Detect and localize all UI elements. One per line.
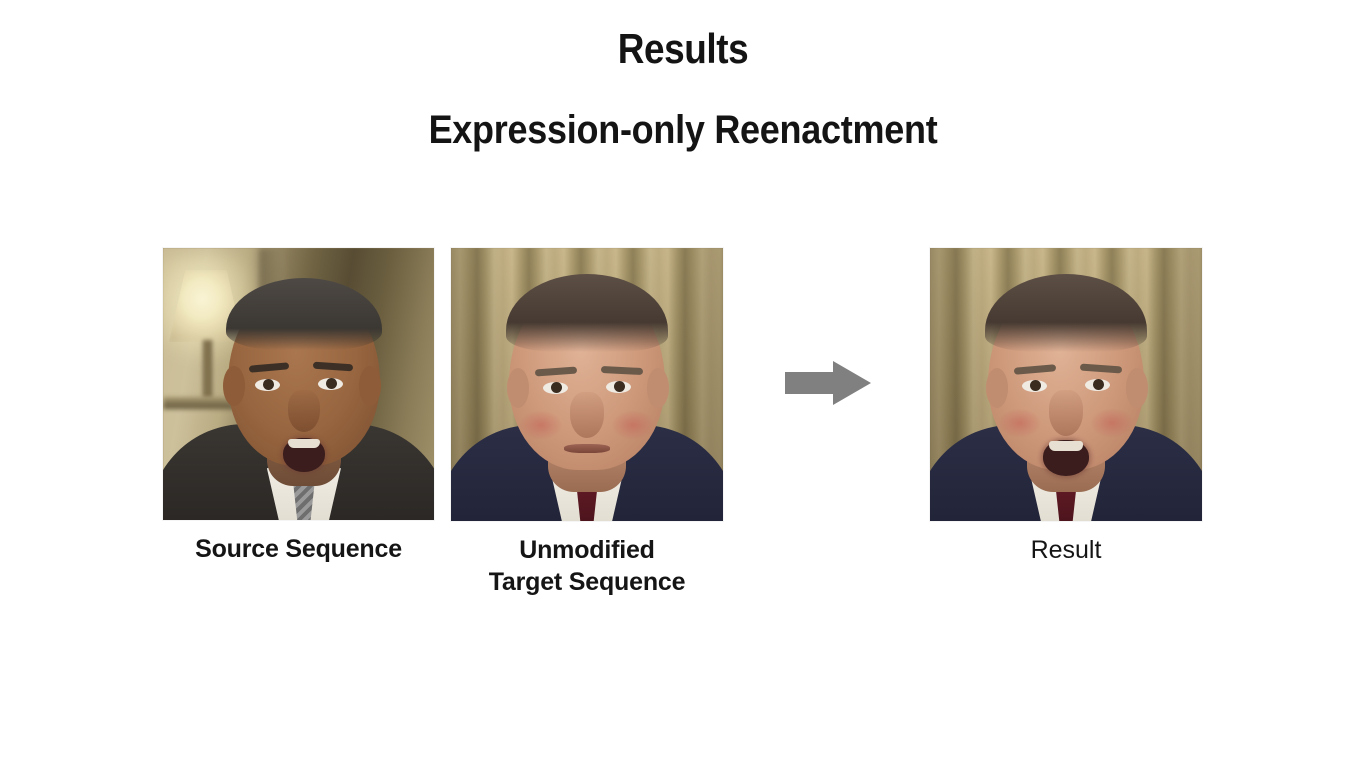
- nose: [1049, 390, 1083, 436]
- ear-left: [223, 366, 245, 406]
- ear-right: [359, 366, 381, 406]
- caption-target-sequence: Unmodified Target Sequence: [489, 534, 686, 598]
- caption-line: Result: [1031, 534, 1102, 566]
- hair: [506, 274, 668, 352]
- nose: [570, 392, 604, 438]
- cheek-left: [519, 410, 563, 440]
- panel-result: Result: [930, 248, 1202, 521]
- pupil-left: [263, 379, 274, 390]
- target-subject-figure: [451, 248, 723, 521]
- caption-result: Result: [1031, 534, 1102, 566]
- cheek-right: [1090, 408, 1134, 438]
- caption-line: Target Sequence: [489, 566, 686, 598]
- result-image: [930, 248, 1202, 521]
- pupil-right: [1093, 379, 1104, 390]
- hair: [985, 274, 1147, 352]
- page-subtitle: Expression-only Reenactment: [68, 104, 1297, 156]
- teeth: [288, 439, 320, 448]
- panel-source-sequence: Source Sequence: [163, 248, 434, 520]
- caption-source-sequence: Source Sequence: [195, 533, 402, 565]
- pupil-left: [1030, 380, 1041, 391]
- ear-left: [507, 368, 529, 408]
- caption-line: Unmodified: [489, 534, 686, 566]
- ear-left: [986, 368, 1008, 408]
- cheek-left: [998, 408, 1042, 438]
- ear-right: [647, 368, 669, 408]
- teeth: [1049, 441, 1083, 451]
- panel-target-sequence: Unmodified Target Sequence: [451, 248, 723, 521]
- source-subject-figure: [163, 248, 434, 520]
- pupil-right: [326, 378, 337, 389]
- hair: [226, 278, 382, 350]
- target-sequence-image: [451, 248, 723, 521]
- nose: [288, 390, 320, 432]
- page-title: Results: [82, 24, 1284, 74]
- pupil-left: [551, 382, 562, 393]
- pupil-right: [614, 381, 625, 392]
- ear-right: [1126, 368, 1148, 408]
- mouth-closed: [564, 444, 610, 453]
- result-subject-figure: [930, 248, 1202, 521]
- cheek-right: [611, 410, 655, 440]
- caption-line: Source Sequence: [195, 533, 402, 565]
- source-sequence-image: [163, 248, 434, 520]
- right-arrow-icon: [783, 360, 873, 406]
